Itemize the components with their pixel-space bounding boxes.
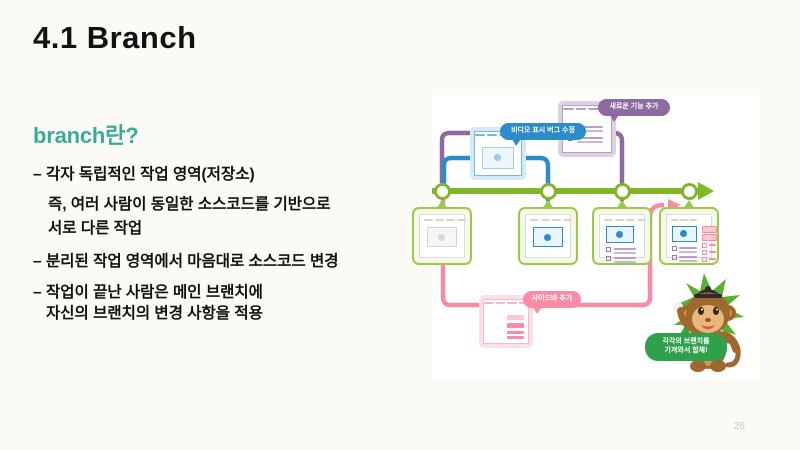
commit-node[interactable] — [434, 183, 451, 200]
bullet-text: 분리된 작업 영역에서 마음대로 소스코드 변경 — [46, 251, 423, 272]
bullet-item: – 작업이 끝난 사람은 메인 브랜치에 자신의 브랜치의 변경 사항을 적용 — [33, 282, 423, 325]
bugfix-branch-bubble: 비디오 표시 버그 수정 — [500, 123, 586, 140]
content-column: branch란? – 각자 독립적인 작업 영역(저장소) 즉, 여러 사람이 … — [33, 118, 423, 333]
commit-card-merged — [659, 207, 719, 265]
branch-diagram: 새로운 기능 추가 비디오 표시 버그 수정 — [432, 95, 760, 380]
commit-node[interactable] — [540, 183, 557, 200]
commit-node[interactable] — [614, 183, 631, 200]
feature-branch-bubble: 새로운 기능 추가 — [598, 99, 670, 116]
page-number: 26 — [734, 421, 745, 432]
feature-branch-label: 새로운 기능 추가 — [610, 103, 659, 112]
page-title: 4.1 Branch — [33, 20, 197, 56]
commit-card — [592, 207, 652, 265]
card-screen — [666, 214, 712, 258]
sidebar-block — [702, 226, 717, 233]
merge-note-label: 각각의 브랜치를 가져와서 합체! — [662, 338, 709, 356]
commit-card — [518, 207, 578, 265]
bullet-marker: – — [33, 282, 46, 303]
sidebar-branch-label: 사이드바 추가 — [532, 295, 573, 304]
bugfix-branch-label: 비디오 표시 버그 수정 — [511, 127, 575, 136]
card-screen — [525, 214, 571, 258]
card-titlebar — [484, 300, 528, 306]
note-line-1: 즉, 여러 사람이 동일한 소스코드를 기반으로 — [48, 194, 423, 215]
bullet-item: – 각자 독립적인 작업 영역(저장소) — [33, 164, 423, 185]
note-line-2: 서로 다른 작업 — [48, 218, 423, 239]
bullet-item: – 분리된 작업 영역에서 마음대로 소스코드 변경 — [33, 251, 423, 272]
bullet-marker: – — [33, 251, 46, 272]
commit-node[interactable] — [681, 183, 698, 200]
card-screen — [599, 214, 645, 258]
sidebar-branch-bubble: 사이드바 추가 — [523, 291, 581, 308]
merge-note-bubble: 각각의 브랜치를 가져와서 합체! — [645, 333, 727, 361]
bullet-text: 각자 독립적인 작업 영역(저장소) — [46, 164, 423, 185]
card-screen — [419, 214, 465, 258]
slide: 4.1 Branch branch란? – 각자 독립적인 작업 영역(저장소)… — [0, 0, 800, 450]
commit-card — [412, 207, 472, 265]
bullet-text: 작업이 끝난 사람은 메인 브랜치에 자신의 브랜치의 변경 사항을 적용 — [46, 282, 423, 325]
bullet-marker: – — [33, 164, 46, 185]
sub-heading: branch란? — [33, 118, 423, 150]
